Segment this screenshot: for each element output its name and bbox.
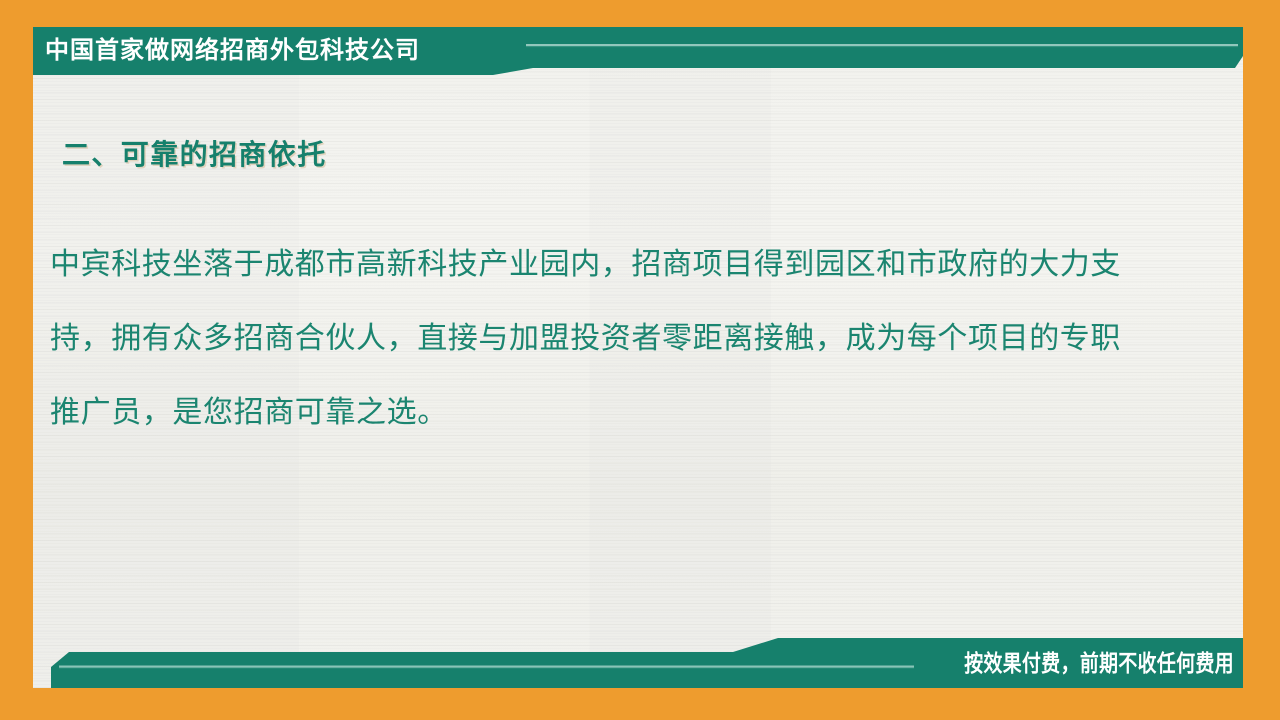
footer-tagline: 按效果付费，前期不收任何费用	[964, 647, 1234, 679]
header-band-highlight	[526, 46, 1238, 47]
footer-band-rule	[59, 666, 914, 668]
body-line: 推广员，是您招商可靠之选。	[50, 376, 1185, 450]
header-title: 中国首家做网络招商外包科技公司	[45, 34, 420, 68]
slide-canvas: 中国首家做网络招商外包科技公司 二、可靠的招商依托 中宾科技坐落于成都市高新科技…	[0, 0, 1280, 720]
body-line: 中宾科技坐落于成都市高新科技产业园内，招商项目得到园区和市政府的大力支	[50, 228, 1185, 302]
body-paragraph: 中宾科技坐落于成都市高新科技产业园内，招商项目得到园区和市政府的大力支 持，拥有…	[50, 228, 1185, 450]
header-band-rule	[526, 44, 1238, 46]
footer-band-highlight	[59, 668, 914, 669]
body-line: 持，拥有众多招商合伙人，直接与加盟投资者零距离接触，成为每个项目的专职	[50, 302, 1185, 376]
section-heading: 二、可靠的招商依托	[62, 136, 327, 174]
